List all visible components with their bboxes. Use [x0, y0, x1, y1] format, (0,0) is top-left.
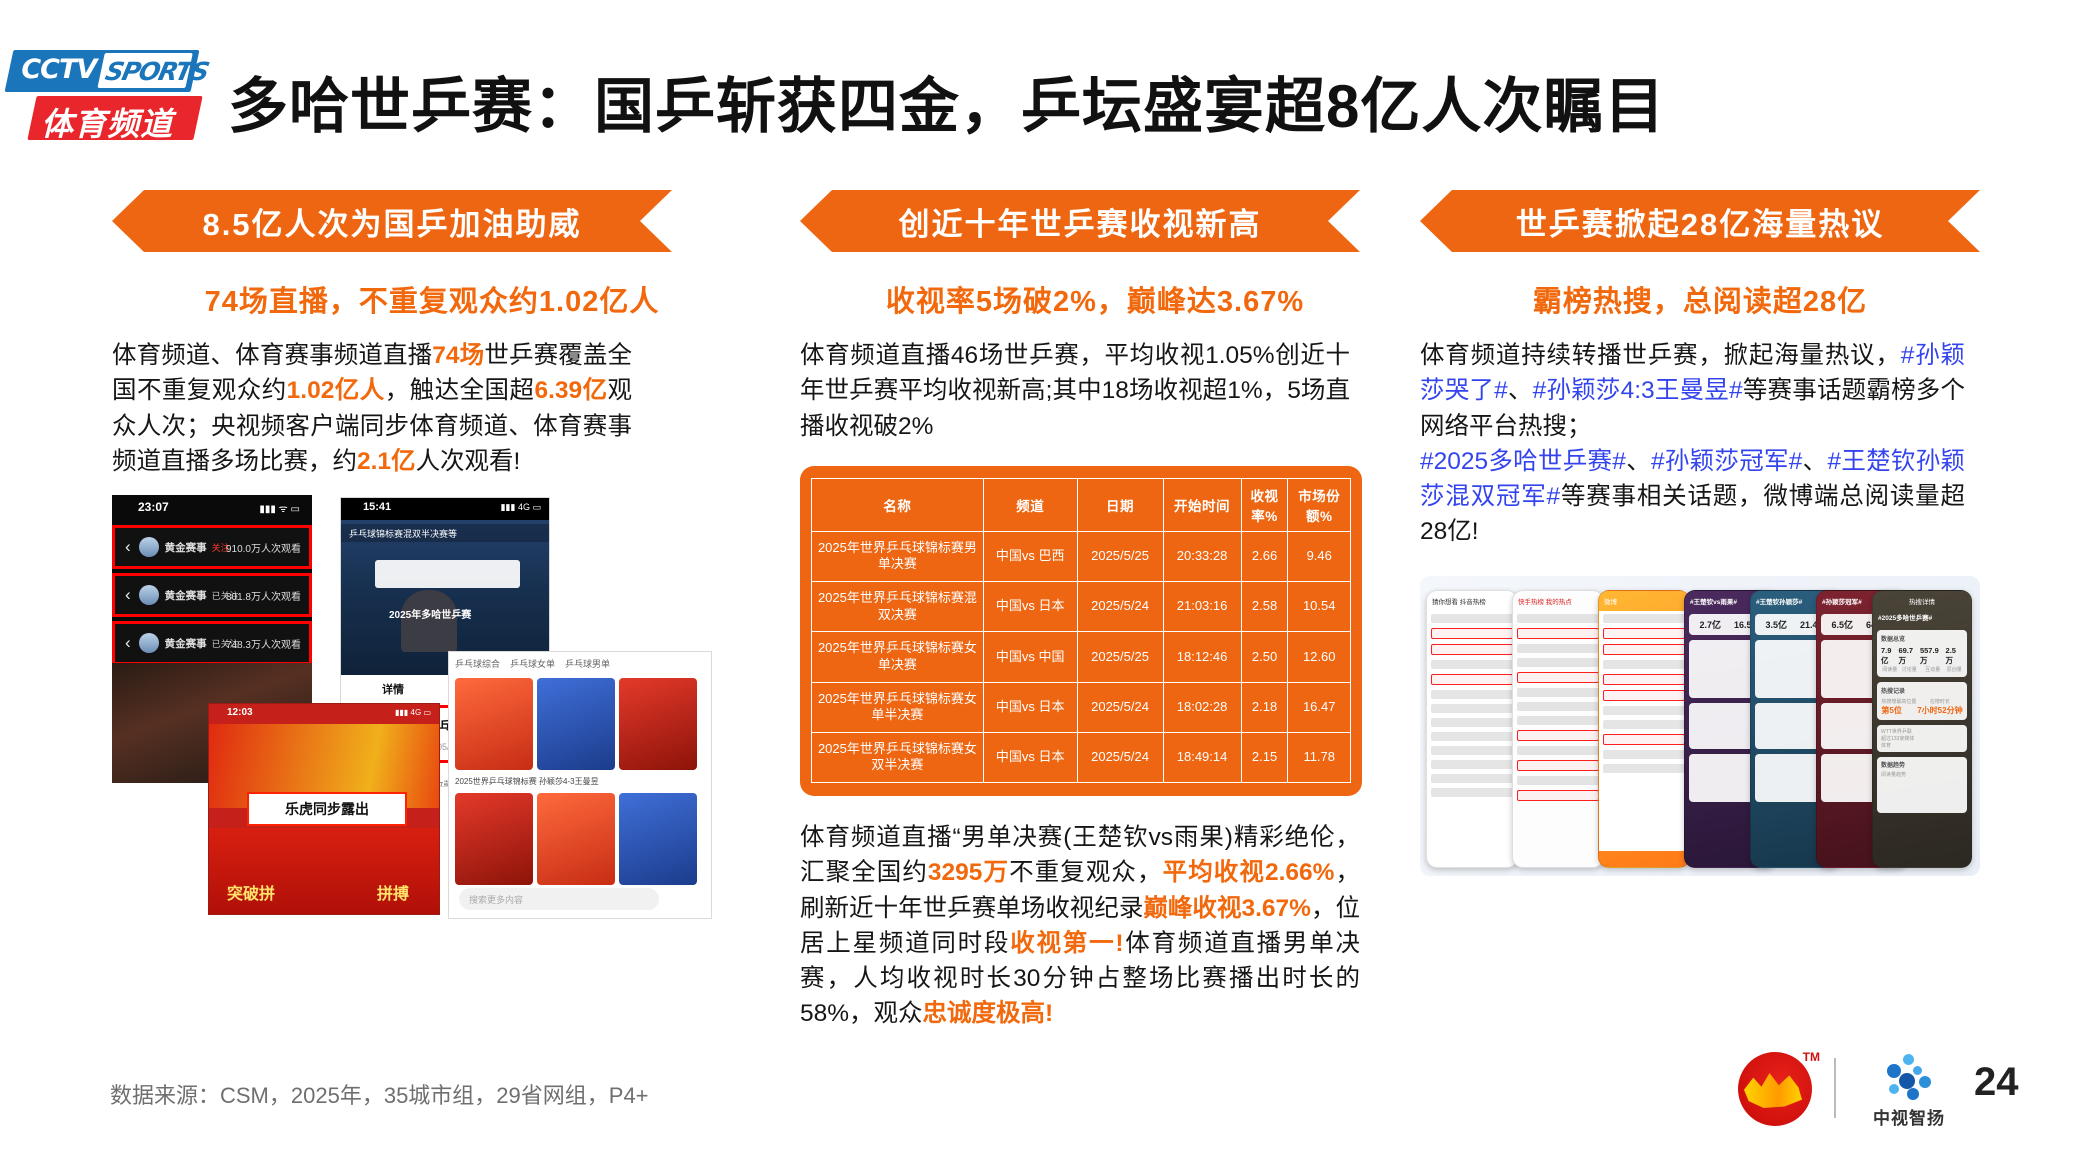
live-row-2: ‹ 黄金赛事 已关注 801.8万人次观看 — [112, 573, 312, 617]
cell-date: 2025/5/24 — [1077, 732, 1163, 782]
peak-label: 热搜榜最高位置 — [1881, 698, 1916, 705]
duration-label: 在榜时长 — [1917, 698, 1962, 705]
list-item — [1517, 760, 1599, 771]
cell-name: 2025年世界乒乓球锦标赛男单决赛 — [812, 531, 984, 581]
phone-7-body: 数据总览 7.9亿 阅读量 69.7万 讨论量 557.9万 — [1873, 627, 1971, 821]
live-row-3-count: 748.3万人次观看 — [226, 636, 301, 651]
status-bar-c: 12:03 ▮▮▮ 4G ▭ — [209, 704, 439, 724]
feed-grid-row-1 — [449, 674, 711, 774]
list-item — [1431, 614, 1513, 623]
list-item — [1603, 614, 1685, 623]
cell-date: 2025/5/24 — [1077, 682, 1163, 732]
paragraph-column-3: 体育频道持续转播世乒赛，掀起海量热议，#孙颖莎哭了#、#孙颖莎4:3王曼昱#等赛… — [1420, 338, 1965, 550]
page-title: 多哈世乒赛：国乒斩获四金，乒坛盛宴超8亿人次瞩目 — [228, 58, 1665, 145]
tab-detail[interactable]: 详情 — [341, 675, 445, 701]
overview-kpis: 7.9亿 阅读量 69.7万 讨论量 557.9万 互动量 — [1881, 646, 1963, 673]
kpi-value-read: 2.7亿 — [1699, 618, 1721, 631]
kpi-interact: 557.9万 — [1920, 646, 1946, 666]
phone-1-list — [1427, 611, 1517, 805]
ratings-table: 名称 频道 日期 开始时间 收视率% 市场份额% 2025年世界乒乓球锦标赛男单… — [811, 478, 1351, 783]
table-row: 2025年世界乒乓球锦标赛混双决赛 中国vs 日本 2025/5/24 21:0… — [812, 582, 1351, 632]
table-row: 2025年世界乒乓球锦标赛男单决赛 中国vs 巴西 2025/5/25 20:3… — [812, 531, 1351, 581]
paragraph-column-2: 体育频道直播46场世乒赛，平均收视1.05%创近十年世乒赛平均收视新高;其中18… — [800, 338, 1350, 444]
cctv-logo-sports-plate: SPORTS — [97, 53, 192, 88]
sponsor-callout: 乐虎同步露出 — [247, 792, 407, 826]
cell-name: 2025年世界乒乓球锦标赛女单半决赛 — [812, 682, 984, 732]
list-item — [1603, 674, 1685, 685]
list-item — [1603, 720, 1685, 729]
status-bar-b: 15:41 ▮▮▮ 4G ▭ — [341, 498, 549, 520]
cell-name: 2025年世界乒乓球锦标赛混双决赛 — [812, 582, 984, 632]
back-chevron-icon: ‹ — [125, 537, 131, 557]
anchor-figure — [401, 590, 457, 652]
list-item — [1517, 628, 1599, 639]
cell-date: 2025/5/25 — [1077, 632, 1163, 682]
feed-card[interactable] — [455, 793, 533, 885]
th-share: 市场份额% — [1288, 478, 1351, 531]
search-input[interactable]: 搜索更多内容 — [459, 888, 659, 910]
cell-time: 20:33:28 — [1163, 531, 1241, 581]
cell-channel: 中国vs 日本 — [983, 732, 1077, 782]
slide-header: CCTV SPORTS 体育频道 多哈世乒赛：国乒斩获四金，乒坛盛宴超8亿人次瞩… — [0, 30, 2078, 135]
status-time-b: 15:41 — [363, 501, 391, 513]
lion-mane-shape — [1744, 1070, 1802, 1108]
footer-divider — [1834, 1058, 1836, 1118]
list-item — [1431, 788, 1513, 797]
feed-tab-2[interactable]: 乒乓球男单 — [565, 657, 610, 669]
phone-weibo-hot: 微博 — [1598, 590, 1690, 868]
banner-column-2: 创近十年世乒赛收视新高 — [800, 190, 1360, 252]
list-item — [1431, 760, 1513, 769]
banner-column-3: 世乒赛掀起28亿海量热议 — [1420, 190, 1980, 252]
th-start-time: 开始时间 — [1163, 478, 1241, 531]
avatar — [139, 633, 159, 653]
list-item — [1603, 764, 1685, 773]
record-label: 热搜记录 — [1881, 686, 1963, 695]
status-bar-a: 23:07 ▮▮▮ ᯤ ▭ — [112, 495, 312, 525]
th-name: 名称 — [812, 478, 984, 531]
cell-name: 2025年世界乒乓球锦标赛女双半决赛 — [812, 732, 984, 782]
phone-douyin-hot: 猜你想看 抖音热榜 — [1426, 590, 1518, 868]
table-row: 2025年世界乒乓球锦标赛女单决赛 中国vs 中国 2025/5/25 18:1… — [812, 632, 1351, 682]
player-top-title: 乒乓球锦标赛混双半决赛等 — [341, 524, 549, 542]
column-3-phone-cluster: 猜你想看 抖音热榜 快手热榜 — [1420, 576, 1980, 876]
sponsor-products: 突破拼 拼搏 — [209, 828, 439, 914]
overview-label: 数据总览 — [1881, 634, 1963, 643]
kpi-value-read: 3.5亿 — [1765, 618, 1787, 631]
list-item — [1603, 644, 1685, 655]
status-icons-b: ▮▮▮ 4G ▭ — [501, 502, 541, 513]
status-time-a: 23:07 — [138, 500, 169, 514]
live-row-3: ‹ 黄金赛事 已关注 748.3万人次观看 — [112, 621, 312, 665]
cell-channel: 中国vs 中国 — [983, 632, 1077, 682]
live-row-3-name: 黄金赛事 — [165, 636, 207, 651]
trend-card: 数据趋势 阅读量趋势 — [1877, 757, 1967, 813]
list-item — [1517, 658, 1599, 667]
phone-7-tag: #2025多哈世乒赛# — [1873, 607, 1971, 627]
paragraph-column-2-bottom: 体育频道直播“男单决赛(王楚钦vs雨果)精彩绝伦，汇聚全国约3295万不重复观众… — [800, 820, 1360, 1032]
ratings-table-wrapper: 名称 频道 日期 开始时间 收视率% 市场份额% 2025年世界乒乓球锦标赛男单… — [800, 466, 1362, 796]
list-item — [1603, 734, 1685, 745]
list-item — [1517, 730, 1599, 741]
record-values: 热搜榜最高位置 第5位 在榜时长 7小时52分钟 — [1881, 698, 1963, 716]
back-chevron-icon: ‹ — [125, 585, 131, 605]
media-value: 超过133家媒体 — [1881, 735, 1963, 742]
list-item — [1517, 746, 1599, 755]
zhongshi-logo: 中视智扬 — [1866, 1054, 1952, 1129]
list-item — [1603, 660, 1685, 669]
live-row-1-count: 910.0万人次观看 — [226, 540, 301, 555]
cell-date: 2025/5/24 — [1077, 582, 1163, 632]
cctv-logo-channel-bar: 体育频道 — [27, 96, 202, 140]
cell-time: 21:03:16 — [1163, 582, 1241, 632]
kpi-discuss-label: 讨论量 — [1898, 666, 1920, 673]
list-item — [1517, 672, 1599, 683]
live-row-2-name: 黄金赛事 — [165, 588, 207, 603]
kpi-discuss: 69.7万 — [1898, 646, 1920, 666]
feed-tab-1[interactable]: 乒乓球女单 — [510, 657, 555, 669]
feed-card[interactable] — [619, 793, 697, 885]
table-row: 2025年世界乒乓球锦标赛女单半决赛 中国vs 日本 2025/5/24 18:… — [812, 682, 1351, 732]
zhongshi-mark-icon — [1879, 1054, 1939, 1100]
category-value: 体育 — [1881, 742, 1963, 749]
trademark-symbol: TM — [1803, 1050, 1820, 1064]
column-social: 世乒赛掀起28亿海量热议 霸榜热搜，总阅读超28亿 体育频道持续转播世乒赛，掀起… — [1420, 190, 1980, 876]
list-item — [1603, 750, 1685, 759]
kpi-original-label: 原创量 — [1946, 666, 1963, 673]
list-item — [1517, 702, 1599, 711]
lion-logo-icon: TM — [1738, 1052, 1812, 1126]
cctv-logo-top-bar: CCTV SPORTS — [5, 50, 200, 92]
column-audience: 8.5亿人次为国乒加油助威 74场直播，不重复观众约1.02亿人 体育频道、体育… — [112, 190, 752, 915]
cell-rating: 2.58 — [1241, 582, 1288, 632]
feed-grid-row-2 — [449, 789, 711, 889]
phone-kuaishou-hot: 快手热榜 我的热点 — [1512, 590, 1604, 868]
cell-time: 18:49:14 — [1163, 732, 1241, 782]
feed-card[interactable] — [619, 678, 697, 770]
kpi-interact-label: 互动量 — [1920, 666, 1946, 673]
cell-rating: 2.66 — [1241, 531, 1288, 581]
screenshot-sponsor-page: 12:03 ▮▮▮ 4G ▭ 乐虎同步露出 突破拼 拼搏 — [208, 703, 440, 915]
kpi-read: 7.9亿 — [1881, 646, 1898, 666]
cctv-logo-channel-text: 体育频道 — [41, 99, 173, 145]
cell-share: 11.78 — [1288, 732, 1351, 782]
peak-value: 第5位 — [1881, 705, 1916, 716]
host-value: WTT世界乒联 — [1881, 728, 1963, 735]
zhongshi-brand-name: 中视智扬 — [1866, 1104, 1952, 1129]
cell-time: 18:12:46 — [1163, 632, 1241, 682]
cell-share: 9.46 — [1288, 531, 1351, 581]
cctv-logo-cctv-text: CCTV — [21, 54, 96, 85]
cell-time: 18:02:28 — [1163, 682, 1241, 732]
banner-column-2-label: 创近十年世乒赛收视新高 — [899, 199, 1262, 244]
kpi-original: 2.5万 — [1946, 646, 1963, 666]
list-item — [1517, 614, 1599, 623]
cell-share: 12.60 — [1288, 632, 1351, 682]
cell-share: 16.47 — [1288, 682, 1351, 732]
feed-caption: 2025世界乒乓球锦标赛 孙颖莎4-3王曼昱 — [449, 774, 711, 789]
th-rating: 收视率% — [1241, 478, 1288, 531]
back-chevron-icon: ‹ — [125, 633, 131, 653]
phone-3-list — [1599, 611, 1689, 851]
banner-column-1: 8.5亿人次为国乒加油助威 — [112, 190, 672, 252]
list-item — [1431, 704, 1513, 713]
table-header-row: 名称 频道 日期 开始时间 收视率% 市场份额% — [812, 478, 1351, 531]
sponsor-logo-bar — [375, 560, 520, 588]
list-item — [1517, 790, 1599, 801]
status-icons-a: ▮▮▮ ᯤ ▭ — [259, 501, 300, 515]
column-1-screenshot-cluster: 23:07 ▮▮▮ ᯤ ▭ ‹ 黄金赛事 关注 910.0万人次观看 ‹ 黄金赛… — [112, 495, 712, 915]
paragraph-column-1: 体育频道、体育赛事频道直播74场世乒赛覆盖全国不重复观众约1.02亿人，触达全国… — [112, 338, 632, 479]
overview-card: 数据总览 7.9亿 阅读量 69.7万 讨论量 557.9万 — [1877, 630, 1967, 677]
cell-channel: 中国vs 巴西 — [983, 531, 1077, 581]
cell-channel: 中国vs 日本 — [983, 682, 1077, 732]
trend-label: 数据趋势 — [1881, 760, 1963, 769]
list-item — [1603, 628, 1685, 639]
feed-card[interactable] — [537, 678, 615, 770]
slogan-right: 拼搏 — [377, 880, 409, 904]
subhead-column-2: 收视率5场破2%，巅峰达3.67% — [800, 278, 1390, 320]
search-record-card: 热搜记录 热搜榜最高位置 第5位 在榜时长 7小时52分钟 — [1877, 682, 1967, 720]
list-item — [1431, 674, 1513, 685]
banner-column-3-label: 世乒赛掀起28亿海量热议 — [1516, 199, 1884, 244]
cctv-sports-logo: CCTV SPORTS 体育频道 — [6, 50, 202, 142]
screenshot-video-feed: 乒乓球综合 乒乓球女单 乒乓球男单 2025世界乒乓球锦标赛 孙颖莎4-3王曼昱… — [448, 651, 712, 919]
list-item — [1603, 706, 1685, 715]
live-row-1-name: 黄金赛事 — [165, 540, 207, 555]
list-item — [1517, 716, 1599, 725]
status-icons-c: ▮▮▮ 4G ▭ — [395, 708, 431, 717]
phone-topic-doha-2025: 热搜详情 #2025多哈世乒赛# 数据总览 7.9亿 阅读量 69.7万 讨 — [1872, 590, 1972, 868]
phone-2-title: 快手热榜 我的热点 — [1513, 591, 1603, 611]
duration-value: 7小时52分钟 — [1917, 705, 1962, 716]
list-item — [1603, 690, 1685, 701]
banner-column-1-label: 8.5亿人次为国乒加油助威 — [202, 199, 581, 244]
th-channel: 频道 — [983, 478, 1077, 531]
kpi-read-label: 阅读量 — [1881, 666, 1898, 673]
list-item — [1431, 746, 1513, 755]
live-row-1: ‹ 黄金赛事 关注 910.0万人次观看 — [112, 525, 312, 569]
table-row: 2025年世界乒乓球锦标赛女双半决赛 中国vs 日本 2025/5/24 18:… — [812, 732, 1351, 782]
list-item — [1431, 732, 1513, 741]
list-item — [1431, 660, 1513, 669]
cell-rating: 2.18 — [1241, 682, 1288, 732]
list-item — [1517, 776, 1599, 785]
list-item — [1431, 644, 1513, 655]
host-card: WTT世界乒联 超过133家媒体 体育 — [1877, 725, 1967, 752]
column-ratings: 创近十年世乒赛收视新高 收视率5场破2%，巅峰达3.67% 体育频道直播46场世… — [800, 190, 1390, 1032]
cell-rating: 2.50 — [1241, 632, 1288, 682]
feed-card[interactable] — [537, 793, 615, 885]
phone-3-title: 微博 — [1599, 591, 1689, 611]
kpi-value-read: 6.5亿 — [1831, 618, 1853, 631]
live-row-2-count: 801.8万人次观看 — [226, 588, 301, 603]
cell-share: 10.54 — [1288, 582, 1351, 632]
avatar — [139, 537, 159, 557]
feed-tab-0[interactable]: 乒乓球综合 — [455, 657, 500, 669]
list-item — [1431, 690, 1513, 699]
sponsor-callout-label: 乐虎同步露出 — [285, 799, 369, 819]
source-note: 数据来源：CSM，2025年，35城市组，29省网组，P4+ — [110, 1078, 649, 1110]
subhead-column-1: 74场直播，不重复观众约1.02亿人 — [112, 278, 752, 320]
cell-rating: 2.15 — [1241, 732, 1288, 782]
list-item — [1517, 688, 1599, 697]
trend-sub: 阅读量趋势 — [1881, 771, 1963, 778]
list-item — [1431, 628, 1513, 639]
phone-1-title: 猜你想看 抖音热榜 — [1427, 591, 1517, 611]
phone-2-list — [1513, 611, 1603, 809]
page-number: 24 — [1974, 1060, 2019, 1105]
slogan-left: 突破拼 — [227, 880, 275, 904]
th-date: 日期 — [1077, 478, 1163, 531]
subhead-column-3: 霸榜热搜，总阅读超28亿 — [1420, 278, 1980, 320]
event-title-overlay: 2025年多哈世乒赛 — [389, 606, 471, 621]
list-item — [1431, 774, 1513, 783]
list-item — [1431, 718, 1513, 727]
feed-card[interactable] — [455, 678, 533, 770]
cell-date: 2025/5/25 — [1077, 531, 1163, 581]
cell-channel: 中国vs 日本 — [983, 582, 1077, 632]
cell-name: 2025年世界乒乓球锦标赛女单决赛 — [812, 632, 984, 682]
status-time-c: 12:03 — [227, 707, 253, 718]
avatar — [139, 585, 159, 605]
slide-root: CCTV SPORTS 体育频道 多哈世乒赛：国乒斩获四金，乒坛盛宴超8亿人次瞩… — [0, 0, 2078, 1160]
list-item — [1517, 644, 1599, 653]
footer-branding: TM 中视智扬 24 — [1738, 1048, 2038, 1140]
feed-tabs[interactable]: 乒乓球综合 乒乓球女单 乒乓球男单 — [449, 652, 711, 674]
cctv-logo-sports-text: SPORTS — [103, 57, 211, 86]
